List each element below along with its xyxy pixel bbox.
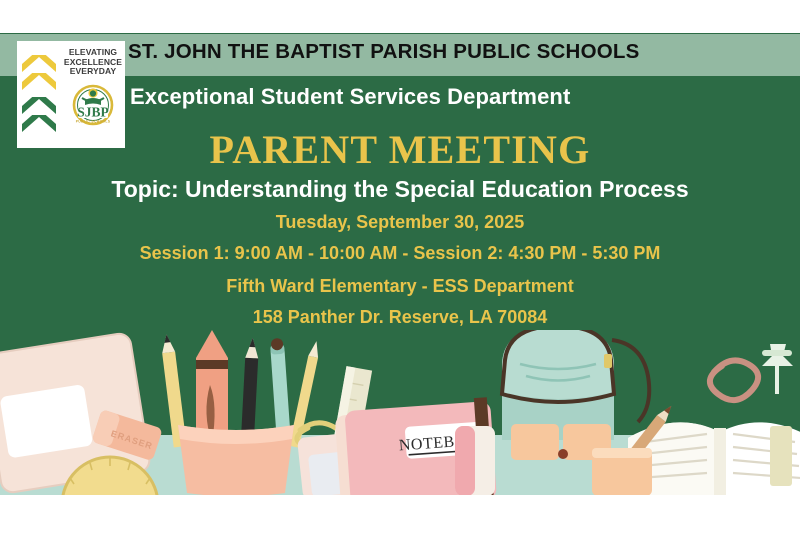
logo-tagline-line-3: EVERYDAY [64,67,122,77]
sjbp-seal-icon: SJBP PUBLIC SCHOOLS [68,80,118,126]
parent-meeting-flyer: ELEVATING EXCELLENCE EVERYDAY SJBP PUBLI… [0,0,800,537]
meeting-venue: Fifth Ward Elementary - ESS Department [0,276,800,297]
logo-tagline: ELEVATING EXCELLENCE EVERYDAY [64,48,122,77]
pink-book-shape [455,426,495,495]
bottom-white-margin [0,495,800,537]
chevron-up-icon-green-1 [22,97,56,114]
school-district-logo: ELEVATING EXCELLENCE EVERYDAY SJBP PUBLI… [17,41,125,148]
chevron-up-icon-yellow-2 [22,73,56,90]
meeting-date: Tuesday, September 30, 2025 [0,212,800,233]
school-supplies-illustration: ERASER [0,330,800,495]
district-name: ST. JOHN THE BAPTIST PARISH PUBLIC SCHOO… [128,40,788,64]
chevron-up-icon-green-2 [22,115,56,132]
chevron-up-icon-yellow-1 [22,55,56,72]
meeting-topic: Topic: Understanding the Special Educati… [0,176,800,203]
peach-book-shape [592,448,652,495]
svg-text:PUBLIC SCHOOLS: PUBLIC SCHOOLS [76,119,111,123]
logo-text-and-seal: ELEVATING EXCELLENCE EVERYDAY SJBP PUBLI… [61,41,125,148]
department-name: Exceptional Student Services Department [130,84,790,110]
meeting-address: 158 Panther Dr. Reserve, LA 70084 [0,307,800,328]
chevron-stack [17,41,61,148]
svg-text:SJBP: SJBP [77,104,109,119]
meeting-sessions: Session 1: 9:00 AM - 10:00 AM - Session … [0,243,800,264]
